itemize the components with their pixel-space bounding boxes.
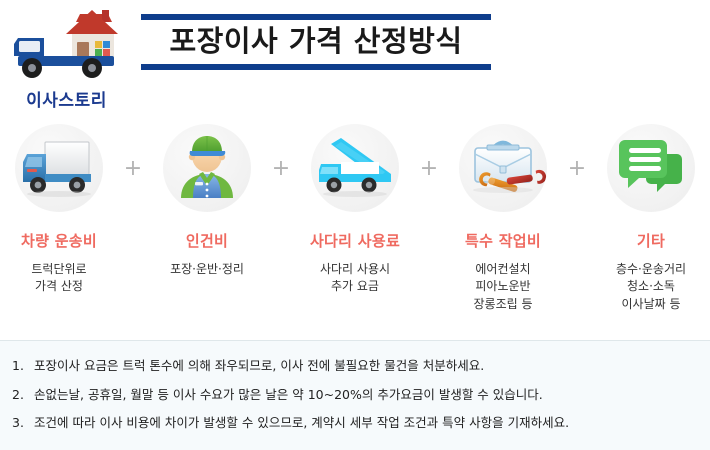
plus-separator-2: + xyxy=(266,158,296,180)
desc-line: 가격 산정 xyxy=(0,278,118,295)
moving-truck-icon xyxy=(15,124,103,212)
cost-item-description: 사다리 사용시 추가 요금 xyxy=(296,261,414,296)
cost-item-special-work[interactable]: 특수 작업비 에어컨설치 피아노운반 장롱조립 등 xyxy=(444,124,562,313)
note-item: 1. 포장이사 요금은 트럭 톤수에 의해 좌우되므로, 이사 전에 불필요한 … xyxy=(12,357,692,375)
plus-separator-3: + xyxy=(414,158,444,180)
note-text: 포장이사 요금은 트럭 톤수에 의해 좌우되므로, 이사 전에 불필요한 물건을… xyxy=(34,357,692,375)
cost-item-description: 층수·운송거리 청소·소독 이사날짜 등 xyxy=(592,261,710,313)
cost-item-description: 에어컨설치 피아노운반 장롱조립 등 xyxy=(444,261,562,313)
desc-line: 피아노운반 xyxy=(444,278,562,295)
plus-separator-4: + xyxy=(562,158,592,180)
note-item: 2. 손없는날, 공휴일, 월말 등 이사 수요가 많은 날은 약 10~20%… xyxy=(12,386,692,404)
desc-line: 장롱조립 등 xyxy=(444,296,562,313)
cost-item-etc[interactable]: 기타 층수·운송거리 청소·소독 이사날짜 등 xyxy=(592,124,710,313)
cost-item-description: 트럭단위로 가격 산정 xyxy=(0,261,118,296)
desc-line: 에어컨설치 xyxy=(444,261,562,278)
note-text: 손없는날, 공휴일, 월말 등 이사 수요가 많은 날은 약 10~20%의 추… xyxy=(34,386,692,404)
worker-person-icon xyxy=(163,124,251,212)
notes-panel: 1. 포장이사 요금은 트럭 톤수에 의해 좌우되므로, 이사 전에 불필요한 … xyxy=(0,340,710,450)
cost-item-label: 차량 운송비 xyxy=(0,230,118,251)
note-text: 조건에 따라 이사 비용에 차이가 발생할 수 있으므로, 계약시 세부 작업 … xyxy=(34,414,692,432)
desc-line: 층수·운송거리 xyxy=(592,261,710,278)
cost-item-labor[interactable]: 인건비 포장·운반·정리 xyxy=(148,124,266,278)
desc-line: 추가 요금 xyxy=(296,278,414,295)
cost-item-label: 특수 작업비 xyxy=(444,230,562,251)
note-number: 2. xyxy=(12,386,34,404)
note-item: 3. 조건에 따라 이사 비용에 차이가 발생할 수 있으므로, 계약시 세부 … xyxy=(12,414,692,432)
title-block: 포장이사 가격 산정방식 xyxy=(141,14,491,70)
desc-line: 트럭단위로 xyxy=(0,261,118,278)
cost-breakdown-row: 차량 운송비 트럭단위로 가격 산정 + xyxy=(0,124,710,313)
note-number: 1. xyxy=(12,357,34,375)
page-title: 포장이사 가격 산정방식 xyxy=(141,20,491,61)
cost-item-label: 기타 xyxy=(592,230,710,251)
chat-bubbles-icon xyxy=(607,124,695,212)
cost-item-ladder-fee[interactable]: 사다리 사용료 사다리 사용시 추가 요금 xyxy=(296,124,414,296)
cost-item-description: 포장·운반·정리 xyxy=(148,261,266,278)
desc-line: 포장·운반·정리 xyxy=(148,261,266,278)
toolbox-wrench-icon xyxy=(459,124,547,212)
truck-house-logo-icon xyxy=(4,8,129,88)
desc-line: 사다리 사용시 xyxy=(296,261,414,278)
desc-line: 이사날짜 등 xyxy=(592,296,710,313)
plus-separator-1: + xyxy=(118,158,148,180)
desc-line: 청소·소독 xyxy=(592,278,710,295)
cost-item-label: 인건비 xyxy=(148,230,266,251)
page-header: 이사스토리 포장이사 가격 산정방식 xyxy=(0,0,710,118)
note-number: 3. xyxy=(12,414,34,432)
brand-logo-text: 이사스토리 xyxy=(4,86,129,111)
cost-item-label: 사다리 사용료 xyxy=(296,230,414,251)
ladder-truck-icon xyxy=(311,124,399,212)
title-bar-bottom xyxy=(141,64,491,70)
brand-logo[interactable]: 이사스토리 xyxy=(4,8,129,118)
cost-item-vehicle-transport[interactable]: 차량 운송비 트럭단위로 가격 산정 xyxy=(0,124,118,296)
